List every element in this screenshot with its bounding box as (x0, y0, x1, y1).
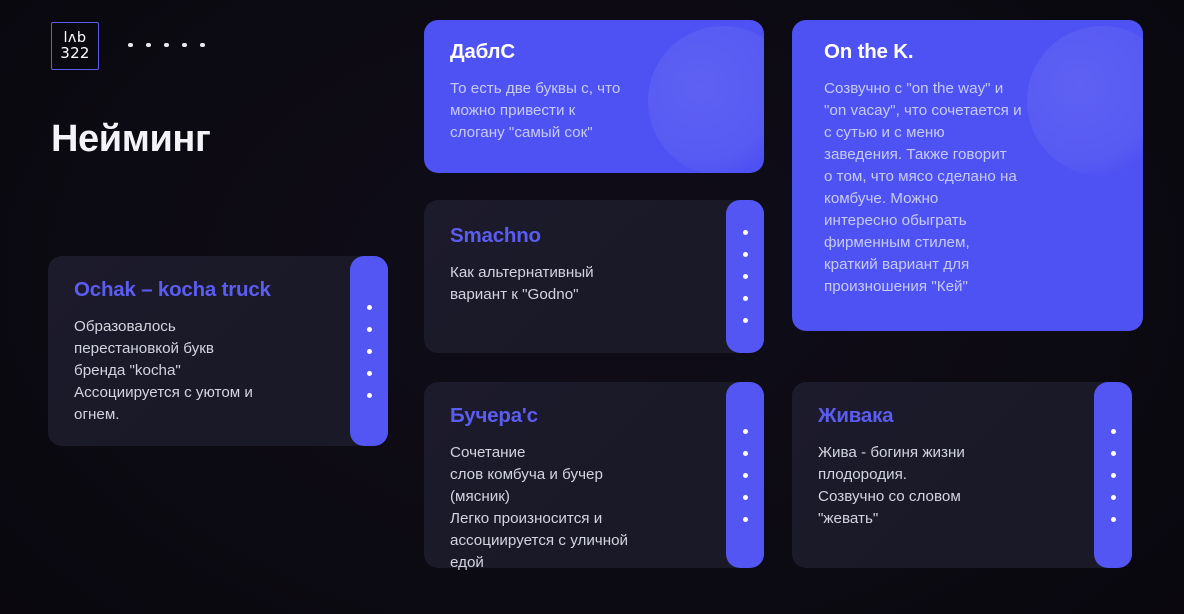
card-smachno-body: Как альтернативный вариант к "Godno" (450, 262, 710, 306)
card-dabls-body: То есть две буквы с, что можно привести … (450, 78, 738, 144)
dot-icon (743, 274, 748, 279)
card-zhivaka-body: Жива - богиня жизни плодородия. Созвучно… (818, 442, 1078, 530)
dot-icon (200, 43, 205, 48)
card-buchera-sidebar[interactable] (726, 382, 764, 568)
card-on-the-k[interactable]: On the K. Созвучно с "on the way" и "on … (792, 20, 1143, 331)
card-zhivaka-title: Живака (818, 404, 1078, 428)
dot-icon (1111, 517, 1116, 522)
card-zhivaka-content: Живака Жива - богиня жизни плодородия. С… (792, 382, 1132, 550)
card-zhivaka-sidebar[interactable] (1094, 382, 1132, 568)
dot-icon (128, 43, 133, 48)
card-ochak-sidebar[interactable] (350, 256, 388, 446)
dot-icon (743, 252, 748, 257)
dot-icon (743, 473, 748, 478)
card-dabls-content: ДаблС То есть две буквы с, что можно при… (424, 20, 764, 164)
card-zhivaka[interactable]: Живака Жива - богиня жизни плодородия. С… (792, 382, 1132, 568)
dot-icon (164, 43, 169, 48)
lab322-logo: lʌb 322 (51, 22, 99, 70)
card-on-the-k-content: On the K. Созвучно с "on the way" и "on … (792, 20, 1143, 318)
card-smachno-title: Smachno (450, 224, 710, 248)
logo-text-322: 322 (60, 46, 90, 61)
card-smachno-sidebar[interactable] (726, 200, 764, 353)
card-ochak-content: Ochak – kocha truck Образовалось переста… (48, 256, 388, 446)
dot-icon (743, 429, 748, 434)
dot-icon (367, 305, 372, 310)
card-ochak-title: Ochak – kocha truck (74, 278, 334, 302)
brand-dot-row (128, 43, 205, 50)
dot-icon (1111, 451, 1116, 456)
dot-icon (367, 371, 372, 376)
dot-icon (367, 327, 372, 332)
dot-icon (743, 517, 748, 522)
card-smachno-content: Smachno Как альтернативный вариант к "Go… (424, 200, 764, 326)
dot-icon (1111, 429, 1116, 434)
card-on-the-k-title: On the K. (824, 40, 1113, 64)
dot-icon (743, 230, 748, 235)
dot-icon (367, 349, 372, 354)
card-dabls-title: ДаблС (450, 40, 738, 64)
card-buchera[interactable]: Бучера'с Сочетание слов комбуча и бучер … (424, 382, 764, 568)
dot-icon (743, 451, 748, 456)
page-title: Нейминг (51, 118, 210, 161)
slide-canvas: lʌb 322 Нейминг Ochak – kocha truck Обра… (0, 0, 1184, 614)
dot-icon (743, 296, 748, 301)
dot-icon (182, 43, 187, 48)
dot-icon (743, 495, 748, 500)
card-on-the-k-body: Созвучно с "on the way" и "on vacay", чт… (824, 78, 1113, 298)
card-ochak-body: Образовалось перестановкой букв бренда "… (74, 316, 334, 426)
card-buchera-title: Бучера'с (450, 404, 710, 428)
card-buchera-content: Бучера'с Сочетание слов комбуча и бучер … (424, 382, 764, 594)
dot-icon (743, 318, 748, 323)
dot-icon (367, 393, 372, 398)
card-smachno[interactable]: Smachno Как альтернативный вариант к "Go… (424, 200, 764, 353)
card-buchera-body: Сочетание слов комбуча и бучер (мясник) … (450, 442, 710, 574)
card-ochak[interactable]: Ochak – kocha truck Образовалось переста… (48, 256, 388, 446)
dot-icon (1111, 473, 1116, 478)
card-dabls[interactable]: ДаблС То есть две буквы с, что можно при… (424, 20, 764, 173)
dot-icon (1111, 495, 1116, 500)
dot-icon (146, 43, 151, 48)
brand-row: lʌb 322 (51, 22, 205, 70)
